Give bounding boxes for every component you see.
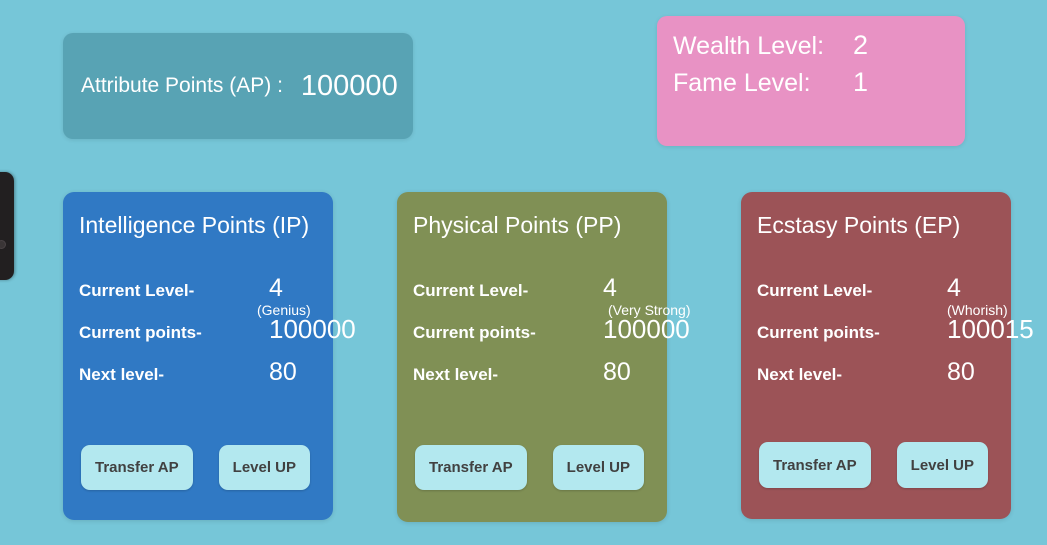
level-up-button[interactable]: Level UP (219, 445, 310, 490)
edge-device-widget[interactable] (0, 172, 14, 280)
current-level-value: 4 (603, 274, 617, 303)
circle-button-icon[interactable] (0, 240, 6, 249)
current-points-label: Current points- (757, 323, 880, 343)
stat-card-ecstasy: Ecstasy Points (EP) Current Level- 4 (Wh… (741, 192, 1011, 519)
transfer-ap-button[interactable]: Transfer AP (81, 445, 193, 490)
stat-card-physical: Physical Points (PP) Current Level- 4 (V… (397, 192, 667, 522)
next-level-value: 80 (947, 358, 975, 387)
fame-level-row: Fame Level: 1 (673, 67, 965, 98)
current-points-row: Current points- 100000 (413, 320, 667, 362)
current-level-value: 4 (947, 274, 961, 303)
transfer-ap-button[interactable]: Transfer AP (415, 445, 527, 490)
next-level-label: Next level- (79, 365, 164, 385)
fame-level-label: Fame Level: (673, 69, 853, 98)
next-level-label: Next level- (413, 365, 498, 385)
card-actions: Transfer AP Level UP (415, 445, 644, 490)
wealth-level-label: Wealth Level: (673, 32, 853, 61)
transfer-ap-button[interactable]: Transfer AP (759, 442, 871, 488)
card-title: Physical Points (PP) (413, 212, 621, 239)
current-level-label: Current Level- (79, 281, 194, 301)
wealth-level-row: Wealth Level: 2 (673, 30, 965, 61)
next-level-row: Next level- 80 (413, 362, 667, 404)
next-level-label: Next level- (757, 365, 842, 385)
attribute-points-panel: Attribute Points (AP) : 100000 (63, 33, 413, 139)
level-up-button[interactable]: Level UP (897, 442, 988, 488)
card-actions: Transfer AP Level UP (81, 445, 310, 490)
card-actions: Transfer AP Level UP (759, 442, 988, 488)
current-level-label: Current Level- (757, 281, 872, 301)
card-stats: Current Level- 4 (Whorish) Current point… (757, 278, 1011, 404)
attribute-points-value: 100000 (301, 70, 398, 103)
current-level-label: Current Level- (413, 281, 528, 301)
current-points-row: Current points- 100015 (757, 320, 1011, 362)
level-up-button[interactable]: Level UP (553, 445, 644, 490)
card-title: Ecstasy Points (EP) (757, 212, 960, 239)
current-points-value: 100000 (269, 314, 356, 345)
card-stats: Current Level- 4 (Genius) Current points… (79, 278, 333, 404)
next-level-value: 80 (269, 358, 297, 387)
wealth-level-value: 2 (853, 30, 868, 61)
attribute-points-label: Attribute Points (AP) : (81, 74, 283, 98)
levels-panel: Wealth Level: 2 Fame Level: 1 (657, 16, 965, 146)
next-level-row: Next level- 80 (79, 362, 333, 404)
current-points-value: 100000 (603, 314, 690, 345)
next-level-value: 80 (603, 358, 631, 387)
current-level-value: 4 (269, 274, 283, 303)
card-title: Intelligence Points (IP) (79, 212, 309, 239)
card-stats: Current Level- 4 (Very Strong) Current p… (413, 278, 667, 404)
current-points-label: Current points- (79, 323, 202, 343)
current-points-row: Current points- 100000 (79, 320, 333, 362)
next-level-row: Next level- 80 (757, 362, 1011, 404)
current-points-value: 100015 (947, 314, 1034, 345)
current-points-label: Current points- (413, 323, 536, 343)
fame-level-value: 1 (853, 67, 868, 98)
stat-card-intelligence: Intelligence Points (IP) Current Level- … (63, 192, 333, 520)
